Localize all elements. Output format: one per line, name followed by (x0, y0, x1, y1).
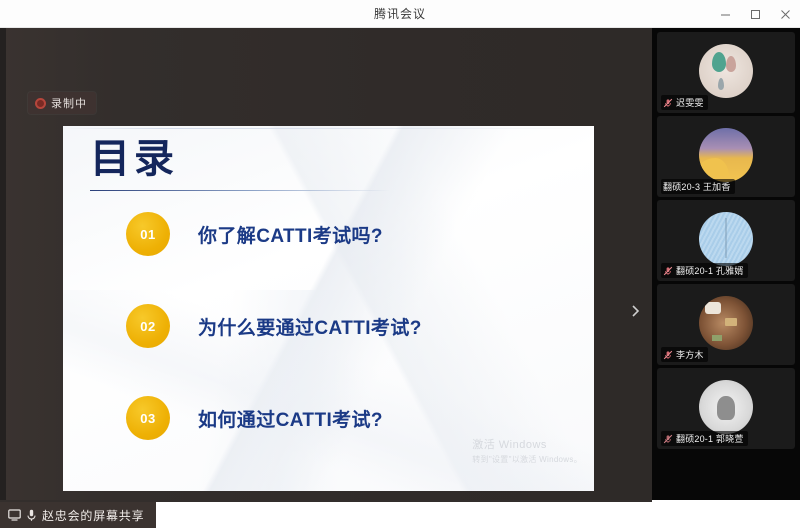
window-controls (710, 0, 800, 28)
item-text: 你了解CATTI考试吗? (198, 221, 383, 248)
avatar (699, 44, 753, 98)
presentation-slide: 目录 01 你了解CATTI考试吗? 02 为什么要通过CATTI考试? 03 … (63, 126, 594, 491)
participant-name: 翻硕20-3 王加香 (663, 180, 731, 193)
participant-nameplate: 迟雯雯 (661, 95, 708, 110)
item-number-badge: 01 (126, 212, 170, 256)
avatar (699, 296, 753, 350)
slide-title-underline (90, 190, 390, 191)
chevron-right-icon[interactable] (628, 300, 642, 322)
participant-tile[interactable]: 翻硕20-3 王加香 (657, 116, 795, 197)
item-text: 为什么要通过CATTI考试? (198, 313, 422, 340)
list-item: 02 为什么要通过CATTI考试? (126, 304, 546, 348)
close-button[interactable] (770, 0, 800, 28)
participant-name: 翻硕20-1 郭晓萱 (676, 432, 744, 445)
avatar (699, 380, 753, 434)
slide-top-rule (63, 128, 594, 129)
mic-muted-icon (663, 98, 673, 108)
minimize-icon (720, 9, 731, 20)
participant-name: 迟雯雯 (676, 96, 704, 109)
shared-screen-stage: 录制中 目录 01 你了解CATTI考试吗? 02 为什么要通过CATTI考试?… (0, 28, 652, 500)
title-bar: 腾讯会议 (0, 0, 800, 28)
chevron-right-glyph (631, 304, 640, 318)
participant-tile[interactable]: 李方木 (657, 284, 795, 365)
participant-name: 李方木 (676, 348, 704, 361)
list-item: 01 你了解CATTI考试吗? (126, 212, 546, 256)
avatar (699, 212, 753, 266)
participant-name: 翻硕20-1 孔雅婿 (676, 264, 744, 277)
microphone-icon (27, 509, 36, 522)
mic-muted-icon (663, 350, 673, 360)
bottom-bar: 赵忠会的屏幕共享 (0, 500, 800, 530)
close-icon (780, 9, 791, 20)
tencent-meeting-window: 腾讯会议 录制中 (0, 0, 800, 530)
item-number-badge: 02 (126, 304, 170, 348)
participant-panel[interactable]: 迟雯雯 翻硕20-3 王加香 翻硕20-1 孔雅婿 (652, 28, 800, 500)
mic-muted-icon (663, 434, 673, 444)
watermark-line-1: 激活 Windows (472, 436, 582, 452)
participant-tile[interactable]: 翻硕20-1 孔雅婿 (657, 200, 795, 281)
recording-label: 录制中 (51, 95, 87, 111)
watermark-line-2: 转到"设置"以激活 Windows。 (472, 454, 582, 465)
participant-nameplate: 李方木 (661, 347, 708, 362)
screen-share-icon (8, 509, 21, 521)
stage-left-edge (0, 28, 6, 500)
participant-nameplate: 翻硕20-3 王加香 (661, 179, 735, 194)
item-text: 如何通过CATTI考试? (198, 405, 383, 432)
maximize-icon (750, 9, 761, 20)
item-number-badge: 03 (126, 396, 170, 440)
record-dot-icon (35, 98, 46, 109)
minimize-button[interactable] (710, 0, 740, 28)
participant-nameplate: 翻硕20-1 孔雅婿 (661, 263, 748, 278)
participant-tile[interactable]: 翻硕20-1 郭晓萱 (657, 368, 795, 449)
screen-share-label: 赵忠会的屏幕共享 (42, 507, 144, 524)
windows-activation-watermark: 激活 Windows 转到"设置"以激活 Windows。 (472, 436, 582, 465)
screen-share-indicator[interactable]: 赵忠会的屏幕共享 (0, 502, 156, 528)
mic-muted-icon (663, 266, 673, 276)
window-title: 腾讯会议 (374, 5, 426, 22)
maximize-button[interactable] (740, 0, 770, 28)
recording-badge: 录制中 (28, 92, 96, 114)
slide-title: 目录 (90, 136, 178, 182)
list-item: 03 如何通过CATTI考试? (126, 396, 546, 440)
avatar (699, 128, 753, 182)
participant-nameplate: 翻硕20-1 郭晓萱 (661, 431, 748, 446)
participant-tile[interactable]: 迟雯雯 (657, 32, 795, 113)
